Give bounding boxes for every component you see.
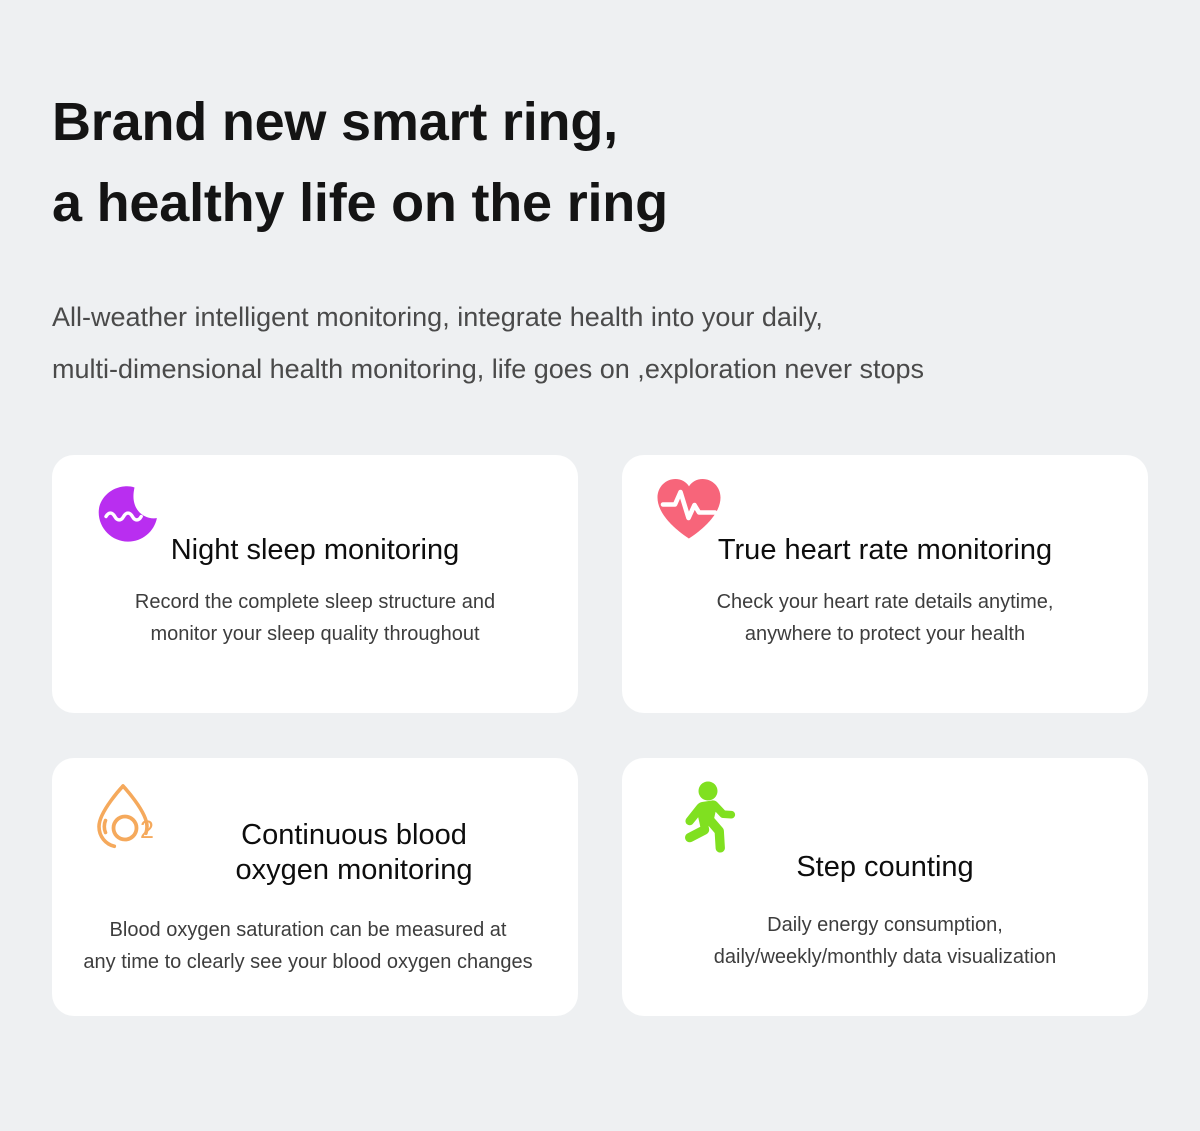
page-subtitle-line-1: All-weather intelligent monitoring, inte…: [52, 292, 1152, 344]
page-title-line-1: Brand new smart ring,: [52, 82, 1152, 163]
feature-card-description: Check your heart rate details anytime, a…: [636, 568, 1134, 651]
feature-card-body: Continuous blood oxygen monitoring Blood…: [52, 818, 578, 978]
feature-card-title: Continuous blood oxygen monitoring: [144, 818, 564, 888]
feature-card-description: Blood oxygen saturation can be measured …: [52, 888, 564, 979]
hero-section: Brand new smart ring, a healthy life on …: [52, 82, 1152, 396]
feature-card-description-line-1: Daily energy consumption,: [636, 909, 1134, 941]
feature-card-description-line-2: any time to clearly see your blood oxyge…: [52, 946, 564, 978]
promo-page: Brand new smart ring, a healthy life on …: [0, 0, 1200, 1131]
feature-card-blood-oxygen[interactable]: 2 Continuous blood oxygen monitoring Blo…: [52, 758, 578, 1016]
feature-card-description-line-1: Record the complete sleep structure and: [66, 586, 564, 618]
page-subtitle: All-weather intelligent monitoring, inte…: [52, 244, 1152, 396]
feature-card-description-line-1: Check your heart rate details anytime,: [636, 586, 1134, 618]
feature-card-step-counting[interactable]: Step counting Daily energy consumption, …: [622, 758, 1148, 1016]
page-title-line-2: a healthy life on the ring: [52, 163, 1152, 244]
feature-card-description-wrap: Blood oxygen saturation can be measured …: [52, 888, 564, 979]
running-person-icon: [666, 778, 742, 858]
feature-card-title: Step counting: [636, 850, 1134, 885]
feature-card-heart-rate[interactable]: True heart rate monitoring Check your he…: [622, 455, 1148, 713]
feature-card-body: Step counting Daily energy consumption, …: [622, 850, 1148, 974]
page-subtitle-line-2: multi-dimensional health monitoring, lif…: [52, 344, 1152, 396]
page-title: Brand new smart ring, a healthy life on …: [52, 82, 1152, 244]
feature-card-body: Night sleep monitoring Record the comple…: [52, 533, 578, 651]
feature-card-title: True heart rate monitoring: [636, 533, 1134, 568]
feature-card-description: Daily energy consumption, daily/weekly/m…: [636, 885, 1134, 974]
feature-card-title: Night sleep monitoring: [66, 533, 564, 568]
feature-card-grid: Night sleep monitoring Record the comple…: [52, 455, 1148, 1016]
feature-card-description: Record the complete sleep structure and …: [66, 568, 564, 651]
feature-card-description-line-2: anywhere to protect your health: [636, 618, 1134, 650]
feature-card-description-line-2: monitor your sleep quality throughout: [66, 618, 564, 650]
feature-card-night-sleep[interactable]: Night sleep monitoring Record the comple…: [52, 455, 578, 713]
feature-card-description-line-1: Blood oxygen saturation can be measured …: [52, 914, 564, 946]
feature-card-description-line-2: daily/weekly/monthly data visualization: [636, 941, 1134, 973]
feature-card-body: True heart rate monitoring Check your he…: [622, 533, 1148, 651]
